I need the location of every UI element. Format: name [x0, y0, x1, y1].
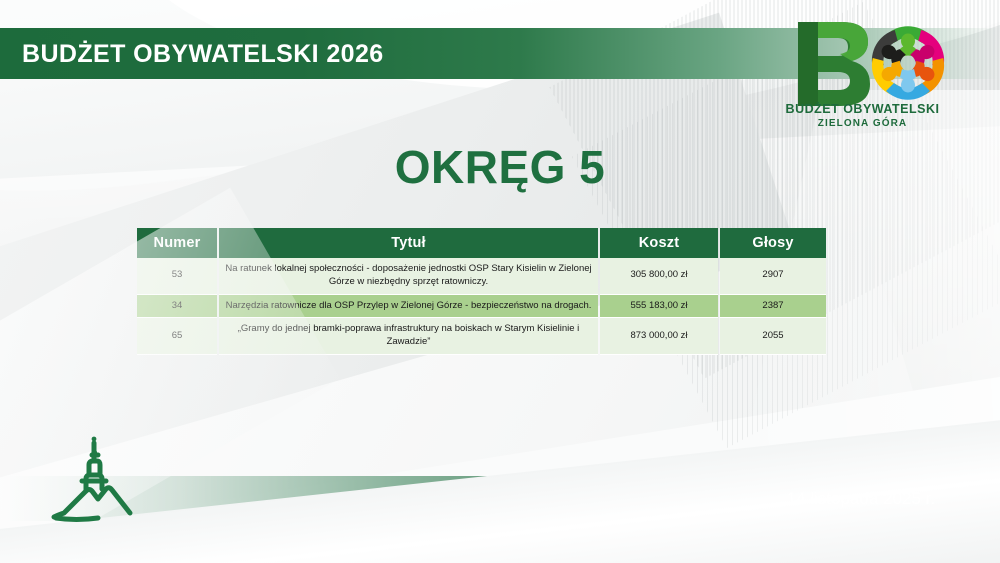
- logo-subcaption: ZIELONA GÓRA: [780, 118, 945, 129]
- cell-koszt: 305 800,00 zł: [600, 258, 718, 295]
- logo-mark-icon: [780, 18, 945, 110]
- column-header-koszt: Koszt: [600, 228, 718, 258]
- cell-glosy: 2907: [720, 258, 826, 295]
- zielona-gora-city-emblem: [42, 425, 152, 535]
- cell-glosy: 2387: [720, 295, 826, 319]
- header-title: BUDŻET OBYWATELSKI 2026: [22, 40, 384, 69]
- footer-date: 14 listopada 2025 r.: [787, 489, 935, 509]
- cell-koszt: 555 183,00 zł: [600, 295, 718, 319]
- column-header-glosy: Głosy: [720, 228, 826, 258]
- presentation-slide: BUDŻET OBYWATELSKI 2026: [0, 0, 1000, 563]
- budzet-obywatelski-logo: BUDŻET OBYWATELSKI ZIELONA GÓRA: [780, 18, 945, 130]
- city-tower-hill-icon: [42, 425, 152, 535]
- logo-caption: BUDŻET OBYWATELSKI: [780, 102, 945, 116]
- cell-glosy: 2055: [720, 318, 826, 355]
- column-header-tytul: Tytuł: [219, 228, 598, 258]
- page-title: OKRĘG 5: [0, 140, 1000, 194]
- cell-koszt: 873 000,00 zł: [600, 318, 718, 355]
